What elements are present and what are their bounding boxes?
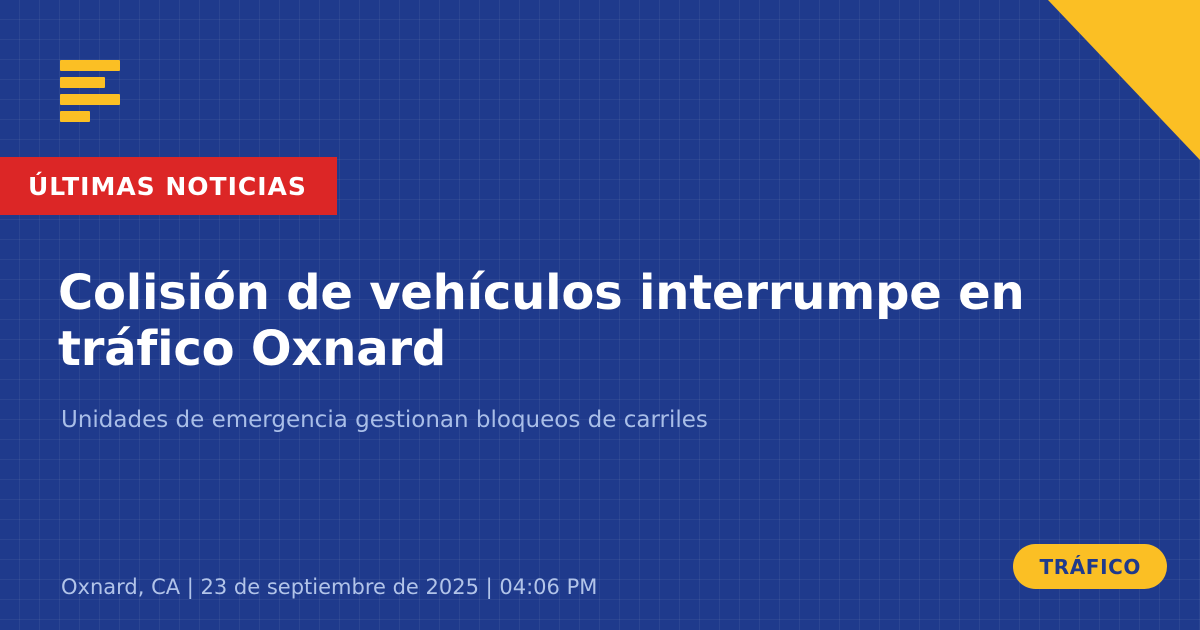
article-meta-line: Oxnard, CA | 23 de septiembre de 2025 | …	[61, 575, 597, 599]
triangle-corner-wedge-icon	[1048, 0, 1200, 160]
breaking-news-label: ÚLTIMAS NOTICIAS	[28, 174, 307, 199]
logo-bar-2	[60, 77, 105, 88]
category-badge[interactable]: TRÁFICO	[1013, 544, 1167, 589]
article-headline: Colisión de vehículos interrumpe en tráf…	[58, 265, 1098, 377]
news-graphic-card: ÚLTIMAS NOTICIAS Colisión de vehículos i…	[0, 0, 1200, 630]
category-badge-label: TRÁFICO	[1039, 557, 1141, 577]
brand-logo[interactable]	[60, 60, 130, 122]
breaking-news-badge: ÚLTIMAS NOTICIAS	[0, 157, 337, 215]
logo-bar-4	[60, 111, 90, 122]
article-subtitle: Unidades de emergencia gestionan bloqueo…	[61, 406, 1061, 436]
logo-bar-1	[60, 60, 120, 71]
logo-bar-3	[60, 94, 120, 105]
